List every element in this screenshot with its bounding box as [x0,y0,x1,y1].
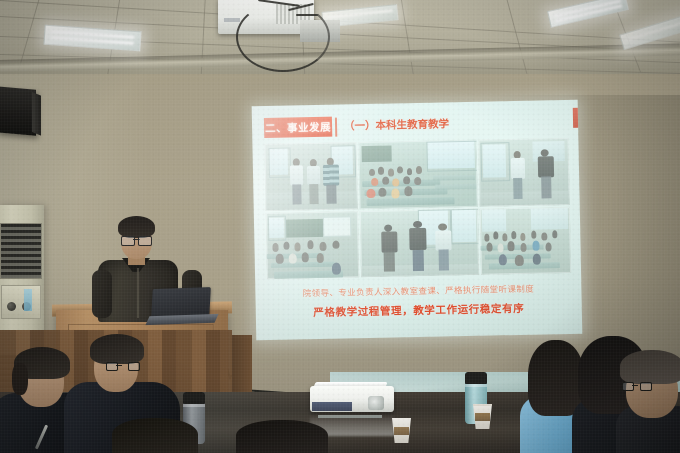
presenter-jacket-zipper [137,268,139,318]
presenter-glasses [121,236,152,244]
slide-surface: 二、事业发展 （一）本科生教育教学 [252,100,583,340]
wood-wall-paneling-edge [232,335,252,397]
thermos-ring [465,384,487,387]
projector-body [310,386,394,412]
slide-photo-grid [264,138,571,279]
slide-title-row: 二、事业发展 （一）本科生教育教学 [264,112,568,140]
cup-logo-band [394,427,409,435]
eyeglasses [622,382,652,389]
cup-logo-band [475,413,490,421]
slide-photo-3 [479,138,570,206]
audience-right-3 [616,348,680,453]
slide-photo-5 [360,208,480,277]
desk-projector[interactable] [310,382,394,415]
thermos-ring [183,404,205,407]
ac-control-panel[interactable] [1,285,41,319]
audience-front [112,418,198,453]
thermos-cap [183,392,205,404]
laptop-keyboard-base [145,314,218,325]
projector-port-panel [312,402,352,411]
projector-lens [368,396,384,410]
presenter-hair [118,216,155,238]
presenter-laptop[interactable] [148,288,214,324]
title-separator [335,118,337,137]
projector-logo [224,18,240,22]
presenter-arm-left [92,270,112,318]
ac-label-sticker [24,289,32,311]
projector-wire [296,14,318,16]
projection-screen: 二、事业发展 （一）本科生教育教学 [252,100,583,342]
slide-subtitle: （一）本科生教育教学 [344,116,449,133]
slide-caption-small: 院领导、专业负责人深入教室查课、严格执行随堂听课制度 [255,282,581,301]
ac-air-vent-grille [0,223,42,279]
slide-section-number: 二、事业发展 [265,119,331,135]
slide-photo-2 [359,140,479,209]
slide-photo-1 [264,142,358,210]
presentation-room-photo: 二、事业发展 （一）本科生教育教学 [0,0,680,453]
eyeglasses [106,362,140,369]
slide-photo-6 [480,206,571,274]
projector-cable-loop [236,2,330,72]
slide-photo-4 [266,211,360,279]
paper-cup[interactable] [473,404,492,429]
projector-foot [318,415,382,418]
paper-cup[interactable] [392,418,411,443]
thermos-cap [465,372,487,384]
audience-center [236,420,328,453]
slide-section-badge: 二、事业发展 [264,117,332,138]
speaker-side-face [32,92,41,136]
wall-speaker [0,86,36,135]
slide-caption-highlight: 严格教学过程管理，教学工作运行稳定有序 [256,300,582,322]
